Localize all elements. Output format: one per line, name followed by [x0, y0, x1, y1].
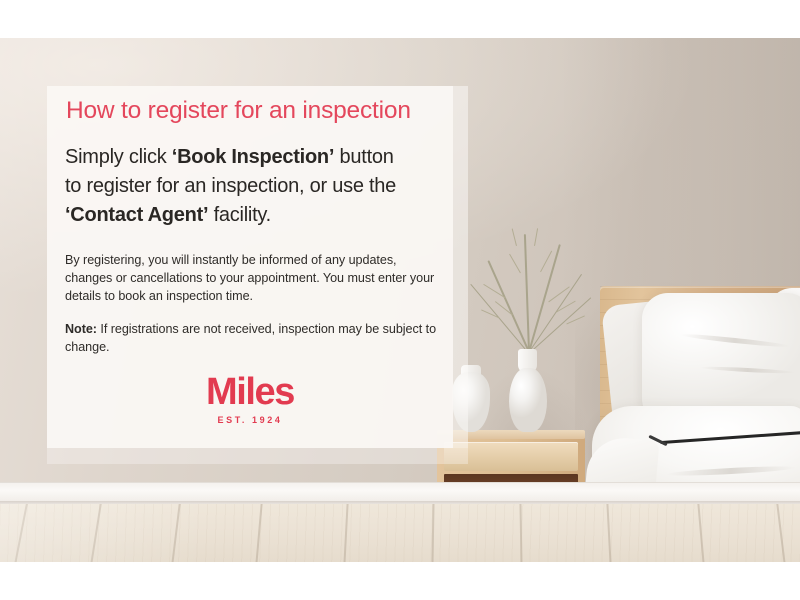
- floor-grain: [0, 504, 800, 562]
- note-label: Note:: [65, 322, 97, 336]
- contact-agent-emphasis: ‘Contact Agent’: [65, 204, 208, 226]
- vase-right: [509, 368, 547, 432]
- panel-body-copy: By registering, you will instantly be in…: [65, 251, 445, 356]
- logo-wordmark: Miles: [47, 372, 453, 412]
- info-panel-translucent-edge: [453, 86, 468, 448]
- panel-lead-text: Simply click ‘Book Inspection’ button to…: [65, 143, 463, 230]
- screenshot-root: How to register for an inspection Simply…: [0, 0, 800, 600]
- lead-line3-post: facility.: [208, 204, 271, 226]
- lead-line2: to register for an inspection, or use th…: [65, 175, 396, 197]
- panel-heading: How to register for an inspection: [66, 97, 466, 125]
- info-panel-translucent-bottom: [47, 448, 468, 464]
- letterbox-top: [0, 0, 800, 38]
- panel-paragraph-registering: By registering, you will instantly be in…: [65, 251, 445, 305]
- logo-established: EST. 1924: [47, 415, 453, 425]
- wood-floor: [0, 504, 800, 562]
- note-text: If registrations are not received, inspe…: [65, 322, 436, 354]
- book-inspection-emphasis: ‘Book Inspection’: [172, 146, 334, 168]
- lead-line1-post: button: [334, 146, 393, 168]
- letterbox-bottom: [0, 562, 800, 600]
- panel-paragraph-note: Note: If registrations are not received,…: [65, 320, 445, 356]
- miles-logo: Miles EST. 1924: [47, 372, 453, 425]
- lead-line1-pre: Simply click: [65, 146, 172, 168]
